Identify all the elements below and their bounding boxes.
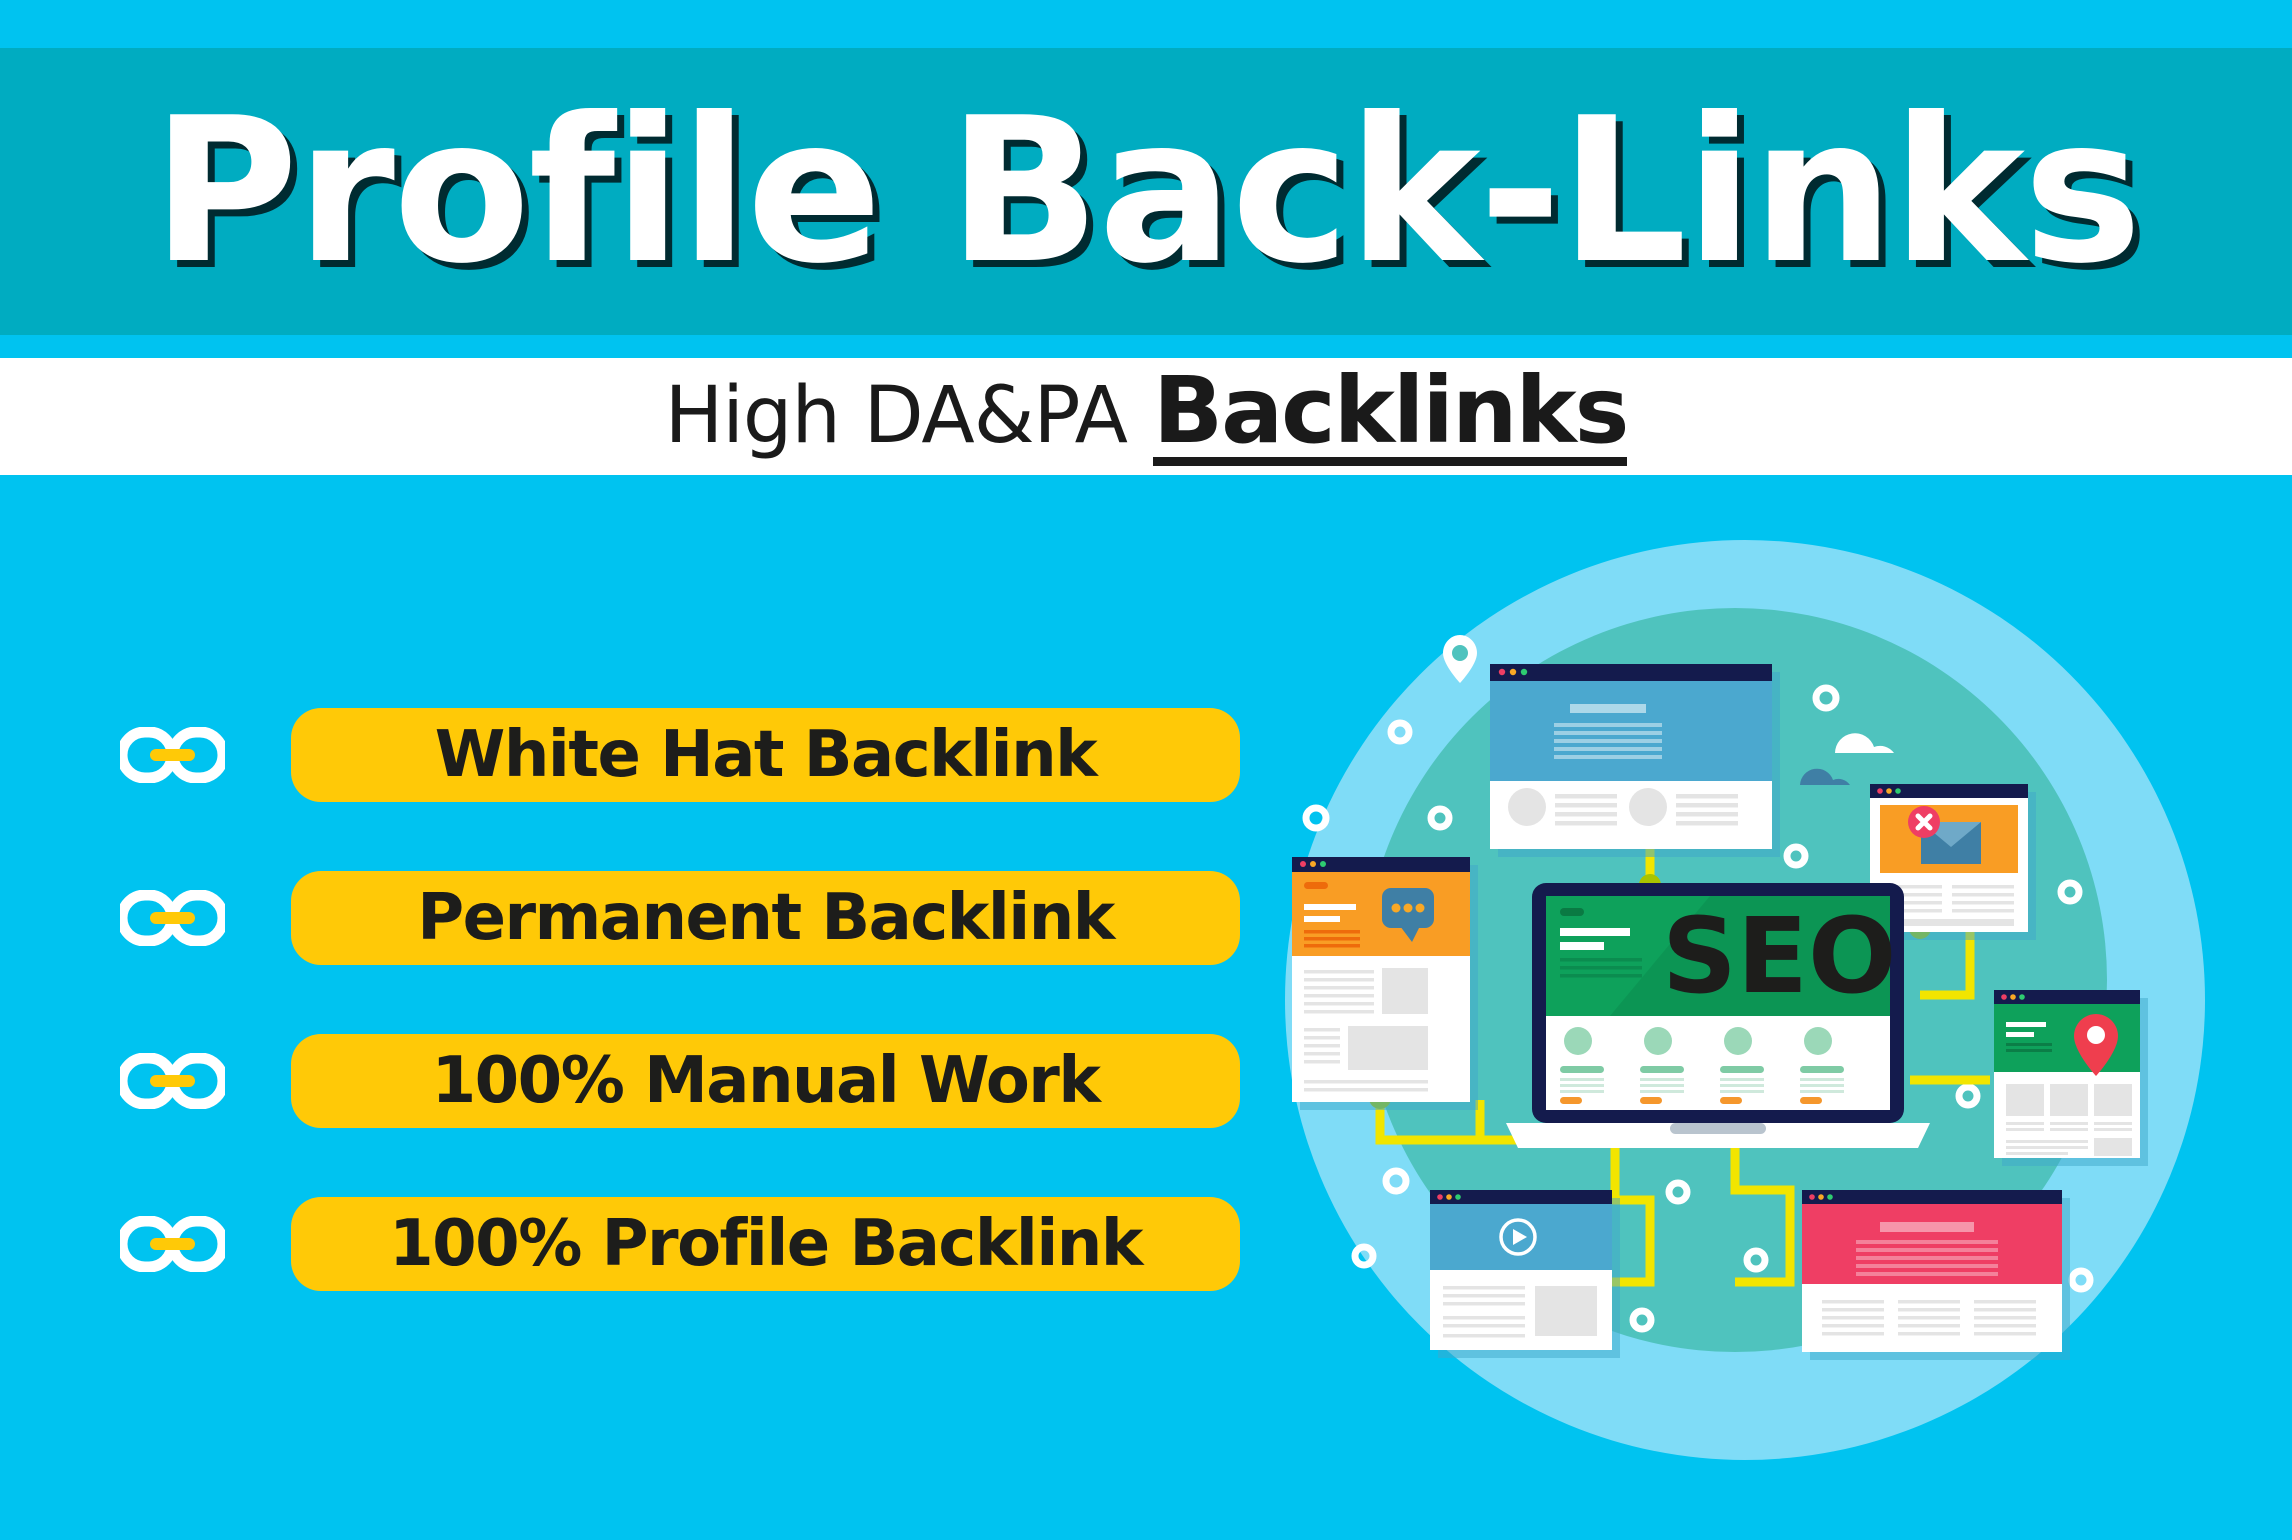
- card-featured: [1802, 1190, 2070, 1360]
- feature-row: Permanent Backlink: [120, 863, 1240, 973]
- subtitle-light-text: High DA&PA: [665, 371, 1127, 461]
- laptop-seo: SEO: [1506, 883, 1930, 1148]
- feature-label: 100% Profile Backlink: [389, 1207, 1142, 1281]
- feature-row: White Hat Backlink: [120, 700, 1240, 810]
- feature-pill[interactable]: 100% Profile Backlink: [291, 1197, 1240, 1291]
- subtitle-strong-text: Backlinks: [1153, 367, 1627, 466]
- feature-row: 100% Manual Work: [120, 1026, 1240, 1136]
- feature-pill[interactable]: 100% Manual Work: [291, 1034, 1240, 1128]
- page-title: Profile Back-Links: [0, 92, 2292, 292]
- card-video: [1430, 1190, 1620, 1358]
- title-band: Profile Back-Links: [0, 48, 2292, 335]
- card-location: [1994, 990, 2148, 1166]
- feature-pill[interactable]: White Hat Backlink: [291, 708, 1240, 802]
- link-icon: [120, 1053, 225, 1109]
- feature-label: Permanent Backlink: [417, 881, 1114, 955]
- link-icon: [120, 890, 225, 946]
- poster-canvas: Profile Back-Links High DA&PA Backlinks …: [0, 0, 2292, 1540]
- feature-list: White Hat Backlink Permanent Backlink: [120, 700, 1240, 1299]
- subtitle: High DA&PA Backlinks: [665, 367, 1628, 466]
- card-left-chat: [1292, 857, 1478, 1110]
- seo-screen-label: SEO: [1662, 895, 1896, 1017]
- card-top-article: [1490, 664, 1780, 857]
- link-icon: [120, 1216, 225, 1272]
- seo-backlink-network-illustration: SEO: [1230, 500, 2260, 1540]
- subtitle-band: High DA&PA Backlinks: [0, 358, 2292, 475]
- feature-label: White Hat Backlink: [435, 718, 1096, 792]
- feature-pill[interactable]: Permanent Backlink: [291, 871, 1240, 965]
- link-icon: [120, 727, 225, 783]
- feature-label: 100% Manual Work: [432, 1044, 1100, 1118]
- feature-row: 100% Profile Backlink: [120, 1189, 1240, 1299]
